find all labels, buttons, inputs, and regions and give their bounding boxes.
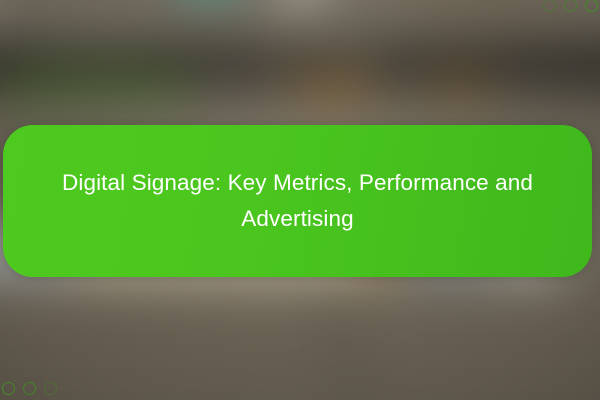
circle-icon[interactable]: [543, 0, 556, 12]
circle-icon[interactable]: [564, 0, 577, 12]
indicator-dots-bottom-left: [2, 382, 57, 395]
slide-canvas: Digital Signage: Key Metrics, Performanc…: [0, 0, 600, 400]
circle-icon[interactable]: [2, 382, 15, 395]
page-title: Digital Signage: Key Metrics, Performanc…: [48, 165, 548, 237]
indicator-dots-top-right: [543, 0, 598, 12]
title-banner: Digital Signage: Key Metrics, Performanc…: [3, 125, 592, 277]
circle-icon[interactable]: [44, 382, 57, 395]
circle-icon[interactable]: [585, 0, 598, 12]
circle-icon[interactable]: [23, 382, 36, 395]
